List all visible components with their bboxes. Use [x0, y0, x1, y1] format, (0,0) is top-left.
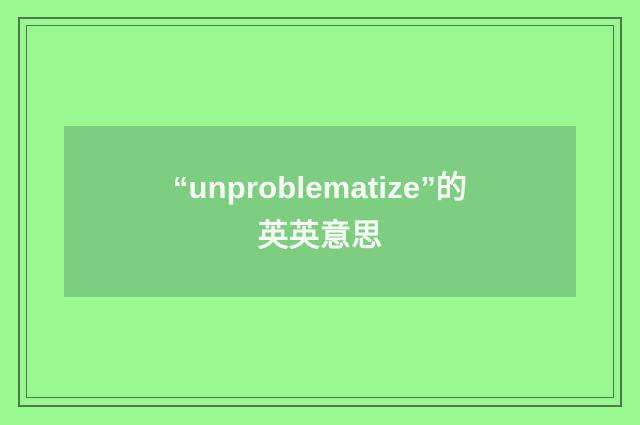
poster-canvas: “unproblematize”的英英意思: [0, 0, 640, 425]
title-panel: “unproblematize”的英英意思: [64, 126, 576, 297]
page-title: “unproblematize”的英英意思: [170, 164, 470, 260]
